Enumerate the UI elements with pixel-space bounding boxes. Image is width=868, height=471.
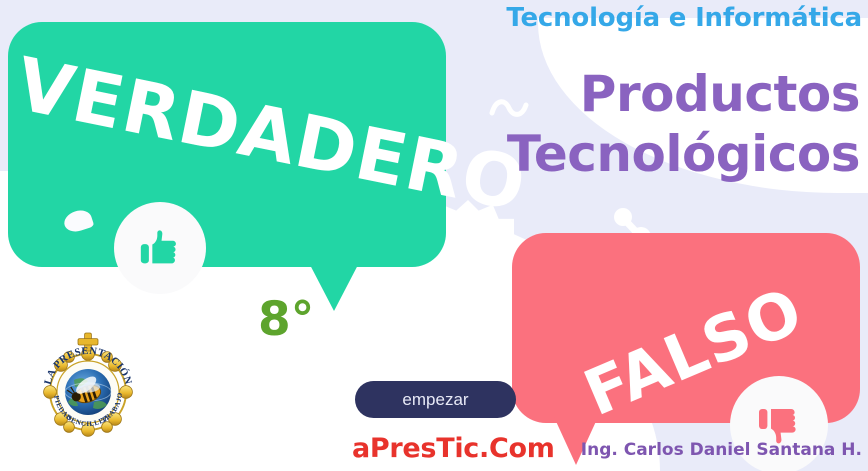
title-line-1: Productos	[507, 64, 860, 124]
start-button[interactable]: empezar	[355, 381, 516, 418]
squiggle-doodle-small-icon	[75, 276, 97, 310]
subject-kicker: Tecnología e Informática	[506, 3, 862, 33]
grade-badge: 8°	[258, 292, 314, 347]
thumbs-up-badge[interactable]	[114, 202, 206, 294]
slide-canvas: VERDADERO FALSO Tecnología e Informática…	[0, 0, 868, 471]
thumbs-up-icon	[137, 225, 183, 271]
brand-watermark: aPresTic.Com	[352, 433, 555, 464]
answer-card-verdadero[interactable]: VERDADERO	[8, 22, 446, 267]
author-credit: Ing. Carlos Daniel Santana H.	[581, 440, 862, 460]
page-title: Productos Tecnológicos	[507, 64, 860, 184]
title-line-2: Tecnológicos	[507, 124, 860, 184]
bubble-highlight-icon	[62, 207, 95, 235]
verdadero-bubble-tail	[308, 261, 360, 311]
school-logo: LA PRESENTACIÓN PIEDAD SENCILLEZ TRABAJO	[30, 330, 146, 446]
